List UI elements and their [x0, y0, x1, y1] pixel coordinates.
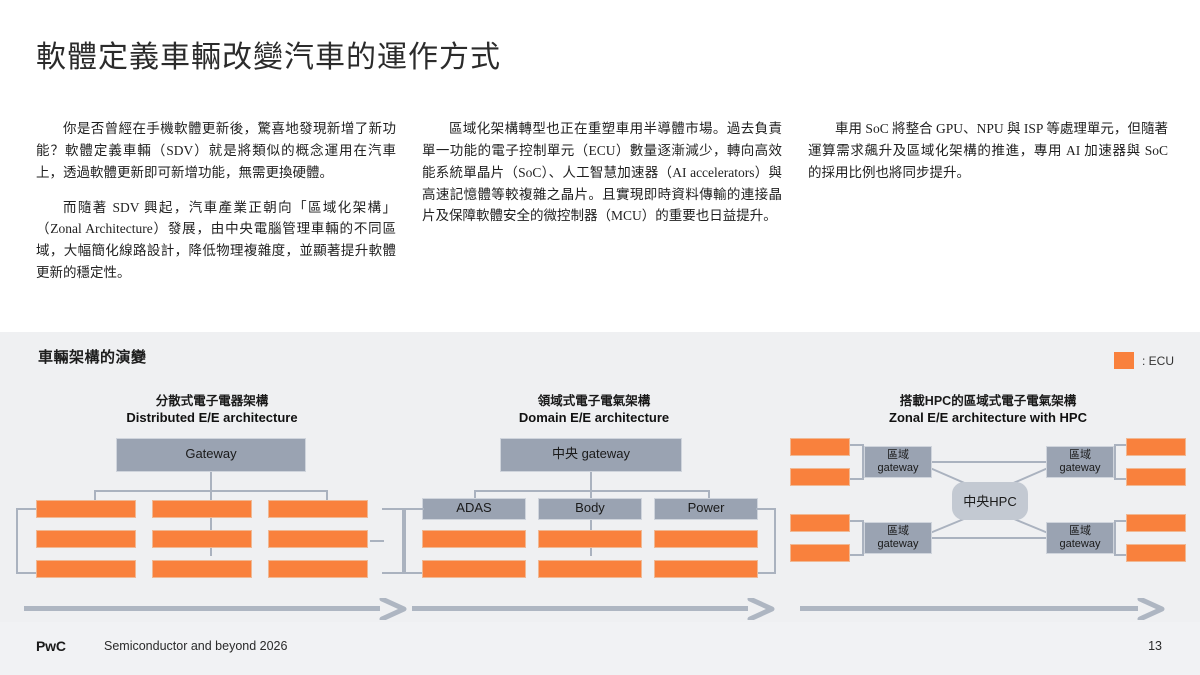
evolution-arrow: [24, 602, 412, 614]
diagram-heading-zh: 搭載HPC的區域式電子電氣架構: [790, 394, 1186, 410]
zone-gateway-label-line2: gateway: [1060, 538, 1101, 551]
diagram-domain: 領域式電子電氣架構 Domain E/E architecture 中央 gat…: [404, 394, 784, 588]
zone-gateway-label-line1: 區域: [887, 449, 909, 462]
diagram-heading: 分散式電子電器架構 Distributed E/E architecture: [16, 394, 408, 426]
paragraph: 車用 SoC 將整合 GPU、NPU 與 ISP 等處理單元，但隨著運算需求飆升…: [808, 118, 1168, 184]
diagram-heading: 領域式電子電氣架構 Domain E/E architecture: [404, 394, 784, 426]
pwc-logo: PwC: [36, 638, 66, 654]
gateway-box: Gateway: [116, 438, 306, 472]
diagram-canvas: 中央HPC 區域 gateway 區域 gateway 區域 gateway: [790, 438, 1186, 588]
ecu-box: [36, 500, 136, 518]
ecu-box: [268, 500, 368, 518]
central-hpc-box: 中央HPC: [952, 482, 1028, 520]
page-number: 13: [1148, 639, 1162, 653]
body-column-1: 你是否曾經在手機軟體更新後，驚喜地發現新增了新功能？軟體定義車輛（SDV）就是將…: [36, 118, 396, 297]
zone-gateway-label-line1: 區域: [1069, 449, 1091, 462]
domain-box-power: Power: [654, 498, 758, 520]
page-title: 軟體定義車輛改變汽車的運作方式: [36, 32, 501, 76]
arrow-head-icon: [744, 598, 780, 620]
ecu-box: [790, 514, 850, 532]
ecu-box: [538, 560, 642, 578]
domain-box-adas: ADAS: [422, 498, 526, 520]
legend-label: : ECU: [1142, 354, 1174, 368]
domain-box-body: Body: [538, 498, 642, 520]
zone-gateway-label-line1: 區域: [887, 525, 909, 538]
ecu-box: [790, 468, 850, 486]
ecu-box: [1126, 468, 1186, 486]
bus-bracket-left: [16, 508, 38, 574]
slide-root: 軟體定義車輛改變汽車的運作方式 你是否曾經在手機軟體更新後，驚喜地發現新增了新功…: [0, 0, 1200, 675]
footer: PwC Semiconductor and beyond 2026 13: [0, 622, 1200, 675]
zone-gateway-box: 區域 gateway: [864, 522, 932, 554]
diagram-heading-en: Distributed E/E architecture: [16, 410, 408, 426]
ecu-box: [1126, 438, 1186, 456]
zone-gateway-label-line2: gateway: [878, 462, 919, 475]
ecu-box: [654, 560, 758, 578]
ecu-box: [152, 500, 252, 518]
ecu-bracket: [850, 444, 864, 480]
ecu-box: [790, 544, 850, 562]
ecu-box: [538, 530, 642, 548]
zone-gateway-box: 區域 gateway: [1046, 446, 1114, 478]
ecu-box: [1126, 544, 1186, 562]
diagram-heading-zh: 領域式電子電氣架構: [404, 394, 784, 410]
ecu-box: [268, 530, 368, 548]
diagram-heading: 搭載HPC的區域式電子電氣架構 Zonal E/E architecture w…: [790, 394, 1186, 426]
ecu-box: [152, 560, 252, 578]
diagram-heading-zh: 分散式電子電器架構: [16, 394, 408, 410]
ecu-box: [422, 560, 526, 578]
body-column-3: 車用 SoC 將整合 GPU、NPU 與 ISP 等處理單元，但隨著運算需求飆升…: [808, 118, 1168, 297]
ecu-box: [422, 530, 526, 548]
bus-bracket-right: [382, 508, 404, 574]
zone-gateway-box: 區域 gateway: [1046, 522, 1114, 554]
ecu-box: [36, 530, 136, 548]
ecu-bracket: [850, 520, 864, 556]
diagram-section-heading: 車輛架構的演變: [38, 346, 147, 367]
body-column-2: 區域化架構轉型也正在重塑車用半導體市場。過去負責單一功能的電子控制單元（ECU）…: [422, 118, 782, 297]
footer-note: Semiconductor and beyond 2026: [104, 639, 287, 653]
ecu-box: [36, 560, 136, 578]
diagram-distributed: 分散式電子電器架構 Distributed E/E architecture G…: [16, 394, 408, 588]
legend-swatch-icon: [1114, 352, 1134, 369]
diagram-canvas: 中央 gateway ADAS Body Power: [404, 438, 784, 588]
ecu-box: [654, 530, 758, 548]
connector-vertical: [210, 472, 212, 490]
zone-gateway-label-line2: gateway: [1060, 462, 1101, 475]
ecu-box: [1126, 514, 1186, 532]
ecu-box: [152, 530, 252, 548]
paragraph: 你是否曾經在手機軟體更新後，驚喜地發現新增了新功能？軟體定義車輛（SDV）就是將…: [36, 118, 396, 184]
diagram-zonal: 搭載HPC的區域式電子電氣架構 Zonal E/E architecture w…: [790, 394, 1186, 588]
ecu-box: [790, 438, 850, 456]
connector-horizontal: [370, 540, 384, 542]
central-gateway-box: 中央 gateway: [500, 438, 682, 472]
evolution-arrow: [800, 602, 1170, 614]
body-columns: 你是否曾經在手機軟體更新後，驚喜地發現新增了新功能？軟體定義車輛（SDV）就是將…: [36, 118, 1168, 297]
arrow-head-icon: [376, 598, 412, 620]
diagram-heading-en: Zonal E/E architecture with HPC: [790, 410, 1186, 426]
evolution-arrow: [412, 602, 780, 614]
zone-gateway-label-line2: gateway: [878, 538, 919, 551]
ecu-box: [268, 560, 368, 578]
legend: : ECU: [1114, 352, 1174, 369]
diagram-canvas: Gateway: [16, 438, 408, 588]
arrow-head-icon: [1134, 598, 1170, 620]
paragraph: 而隨著 SDV 興起，汽車產業正朝向「區域化架構」（Zonal Architec…: [36, 197, 396, 284]
bus-bracket-right: [756, 508, 776, 574]
zone-gateway-label-line1: 區域: [1069, 525, 1091, 538]
diagram-band: 車輛架構的演變 : ECU 分散式電子電器架構 Distributed E/E …: [0, 332, 1200, 622]
bus-bracket-left: [404, 508, 424, 574]
diagram-heading-en: Domain E/E architecture: [404, 410, 784, 426]
zone-gateway-box: 區域 gateway: [864, 446, 932, 478]
connector-vertical: [590, 472, 592, 490]
paragraph: 區域化架構轉型也正在重塑車用半導體市場。過去負責單一功能的電子控制單元（ECU）…: [422, 118, 782, 227]
